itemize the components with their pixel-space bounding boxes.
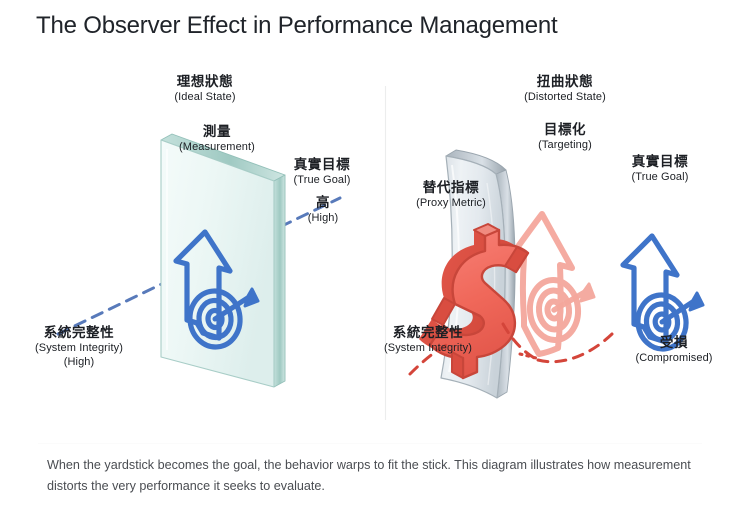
right-scene (410, 150, 703, 398)
distorted-dashed-line-dots (520, 354, 536, 358)
distorted-arrow-target-icon (512, 214, 581, 354)
page-title: The Observer Effect in Performance Manag… (36, 12, 557, 40)
diagram-figure: 理想狀態 (Ideal State) 測量 (Measurement) 真實目標… (0, 52, 740, 442)
left-scene (58, 134, 340, 387)
arrow-target-icon-right (623, 236, 689, 351)
glass-panel-side-edge-left (274, 175, 285, 387)
caption-separator (38, 443, 702, 444)
diagram-page: The Observer Effect in Performance Manag… (0, 0, 740, 511)
figure-caption: When the yardstick becomes the goal, the… (47, 455, 707, 497)
